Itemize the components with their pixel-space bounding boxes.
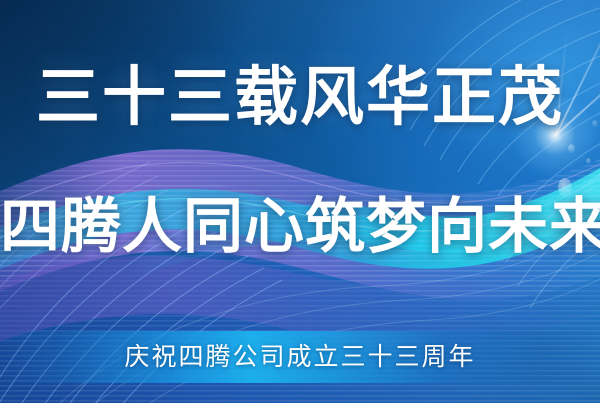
- anniversary-banner: 三十三载风华正茂 四腾人同心筑梦向未来 庆祝四腾公司成立三十三周年: [0, 0, 600, 403]
- subtitle-text: 庆祝四腾公司成立三十三周年: [0, 340, 600, 374]
- headline-line-1: 三十三载风华正茂: [0, 62, 600, 134]
- headline-line-2: 四腾人同心筑梦向未来: [0, 192, 600, 262]
